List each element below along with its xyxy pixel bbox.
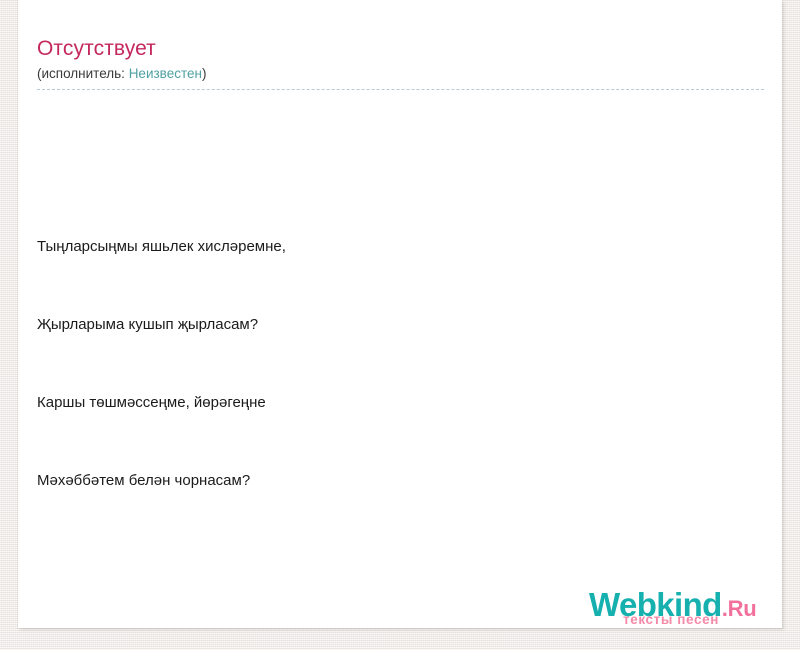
artist-suffix-label: ) <box>202 66 207 81</box>
lyrics-line: Тыңларсыңмы яшьлек хисләремне, <box>37 234 765 260</box>
artist-link[interactable]: Неизвестен <box>129 66 202 81</box>
lyrics-page-card: Отсутствует (исполнитель: Неизвестен) Ты… <box>18 0 782 628</box>
watermark-tagline: тексты песен <box>623 612 719 627</box>
site-watermark-logo: Webkind.Ru тексты песен <box>589 588 782 628</box>
lyrics-stanza: Тыңларсыңмы яшьлек хисләремне, Җырларыма… <box>37 182 765 546</box>
lyrics-line: Мәхәббәтем белән чорнасам? <box>37 468 765 494</box>
artist-prefix-label: (исполнитель: <box>37 66 129 81</box>
page-title: Отсутствует <box>37 36 765 62</box>
lyrics-line: Җырларыма кушып җырласам? <box>37 312 765 338</box>
lyrics-line: Каршы төшмәссеңме, йөрәгеңне <box>37 390 765 416</box>
page-content: Отсутствует (исполнитель: Неизвестен) Ты… <box>37 36 765 628</box>
lyrics-body: Тыңларсыңмы яшьлек хисләремне, Җырларыма… <box>37 104 765 628</box>
artist-line: (исполнитель: Неизвестен) <box>37 65 764 90</box>
watermark-brand-suffix: .Ru <box>722 596 757 621</box>
